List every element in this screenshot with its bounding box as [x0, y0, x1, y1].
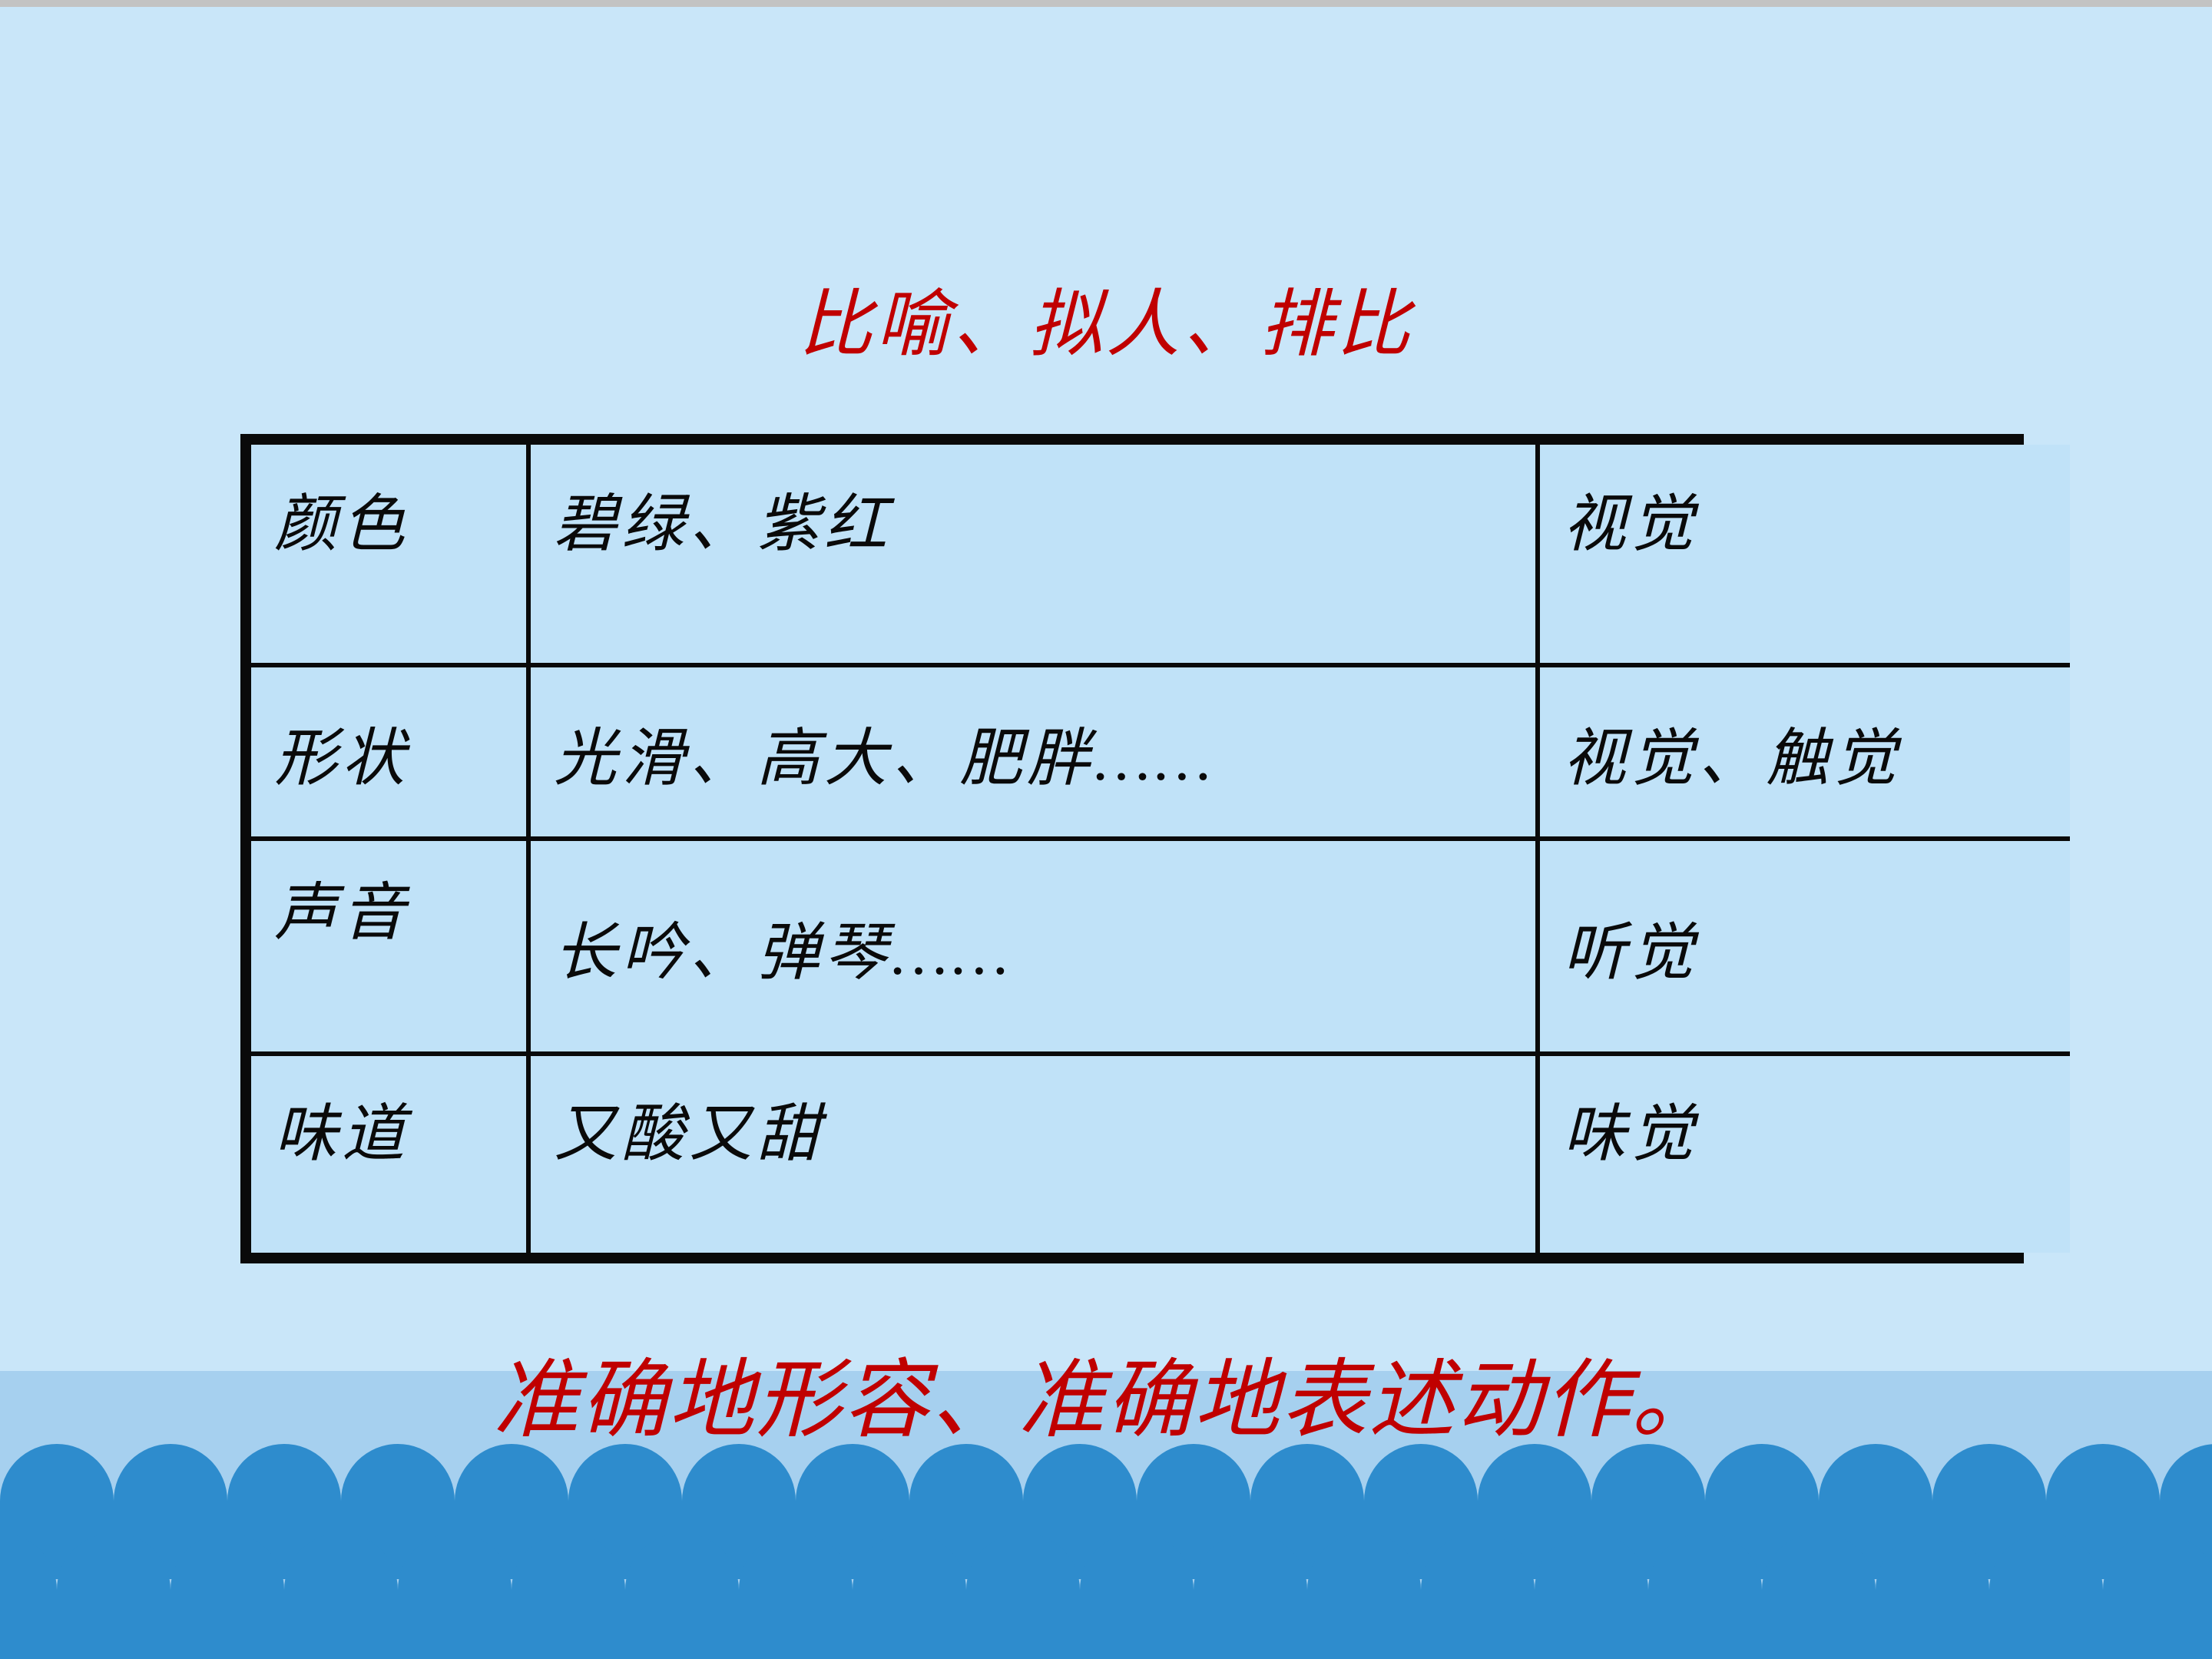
scallop-shape — [853, 1533, 966, 1659]
top-gray-strip — [0, 0, 2212, 7]
page-title: 比喻、拟人、排比 — [0, 284, 2212, 366]
scallop-shape — [1762, 1533, 1876, 1659]
sense-table-grid: 颜色 碧绿、紫红 视觉 形状 光滑、高大、肥胖…… 视觉、触觉 声音 长吟、弹琴… — [251, 445, 2070, 1253]
scallop-shape — [284, 1533, 398, 1659]
row-value-color: 碧绿、紫红 — [528, 445, 1538, 665]
scallop-shape — [739, 1533, 853, 1659]
row-label-taste: 味道 — [251, 1054, 528, 1253]
scallop-shape — [2103, 1533, 2212, 1659]
scallop-shape — [966, 1533, 1080, 1659]
scallop-shape — [398, 1533, 512, 1659]
bottom-caption: 准确地形容、准确地表述动作。 — [0, 1352, 2212, 1451]
scallop-shape — [1307, 1533, 1421, 1659]
scallop-decoration — [0, 1444, 2212, 1659]
row-label-color: 颜色 — [251, 445, 528, 665]
table-row: 声音 长吟、弹琴…… 听觉 — [251, 839, 2070, 1054]
table-row: 形状 光滑、高大、肥胖…… 视觉、触觉 — [251, 665, 2070, 839]
scallop-shape — [1989, 1533, 2103, 1659]
scallop-shape — [1648, 1533, 1762, 1659]
scallop-shape — [625, 1533, 739, 1659]
row-sense-color: 视觉 — [1538, 445, 2070, 665]
scallop-shape — [171, 1533, 284, 1659]
slide-canvas: 比喻、拟人、排比 颜色 碧绿、紫红 视觉 形状 光滑、高大、肥胖…… 视觉、触觉… — [0, 0, 2212, 1659]
row-sense-sound: 听觉 — [1538, 839, 2070, 1054]
scallop-shape — [57, 1533, 171, 1659]
row-value-shape: 光滑、高大、肥胖…… — [528, 665, 1538, 839]
row-sense-shape: 视觉、触觉 — [1538, 665, 2070, 839]
scallop-row-front — [0, 1533, 2212, 1659]
scallop-shape — [0, 1533, 57, 1659]
row-label-sound: 声音 — [251, 839, 528, 1054]
scallop-shape — [512, 1533, 625, 1659]
sense-table: 颜色 碧绿、紫红 视觉 形状 光滑、高大、肥胖…… 视觉、触觉 声音 长吟、弹琴… — [240, 434, 2024, 1263]
scallop-shape — [1876, 1533, 1989, 1659]
scallop-shape — [1421, 1533, 1535, 1659]
table-row: 颜色 碧绿、紫红 视觉 — [251, 445, 2070, 665]
row-sense-taste: 味觉 — [1538, 1054, 2070, 1253]
scallop-shape — [1535, 1533, 1648, 1659]
row-label-shape: 形状 — [251, 665, 528, 839]
sense-table-body: 颜色 碧绿、紫红 视觉 形状 光滑、高大、肥胖…… 视觉、触觉 声音 长吟、弹琴… — [251, 445, 2070, 1253]
table-row: 味道 又酸又甜 味觉 — [251, 1054, 2070, 1253]
scallop-shape — [1194, 1533, 1307, 1659]
row-value-taste: 又酸又甜 — [528, 1054, 1538, 1253]
scallop-shape — [1080, 1533, 1194, 1659]
row-value-sound: 长吟、弹琴…… — [528, 839, 1538, 1054]
